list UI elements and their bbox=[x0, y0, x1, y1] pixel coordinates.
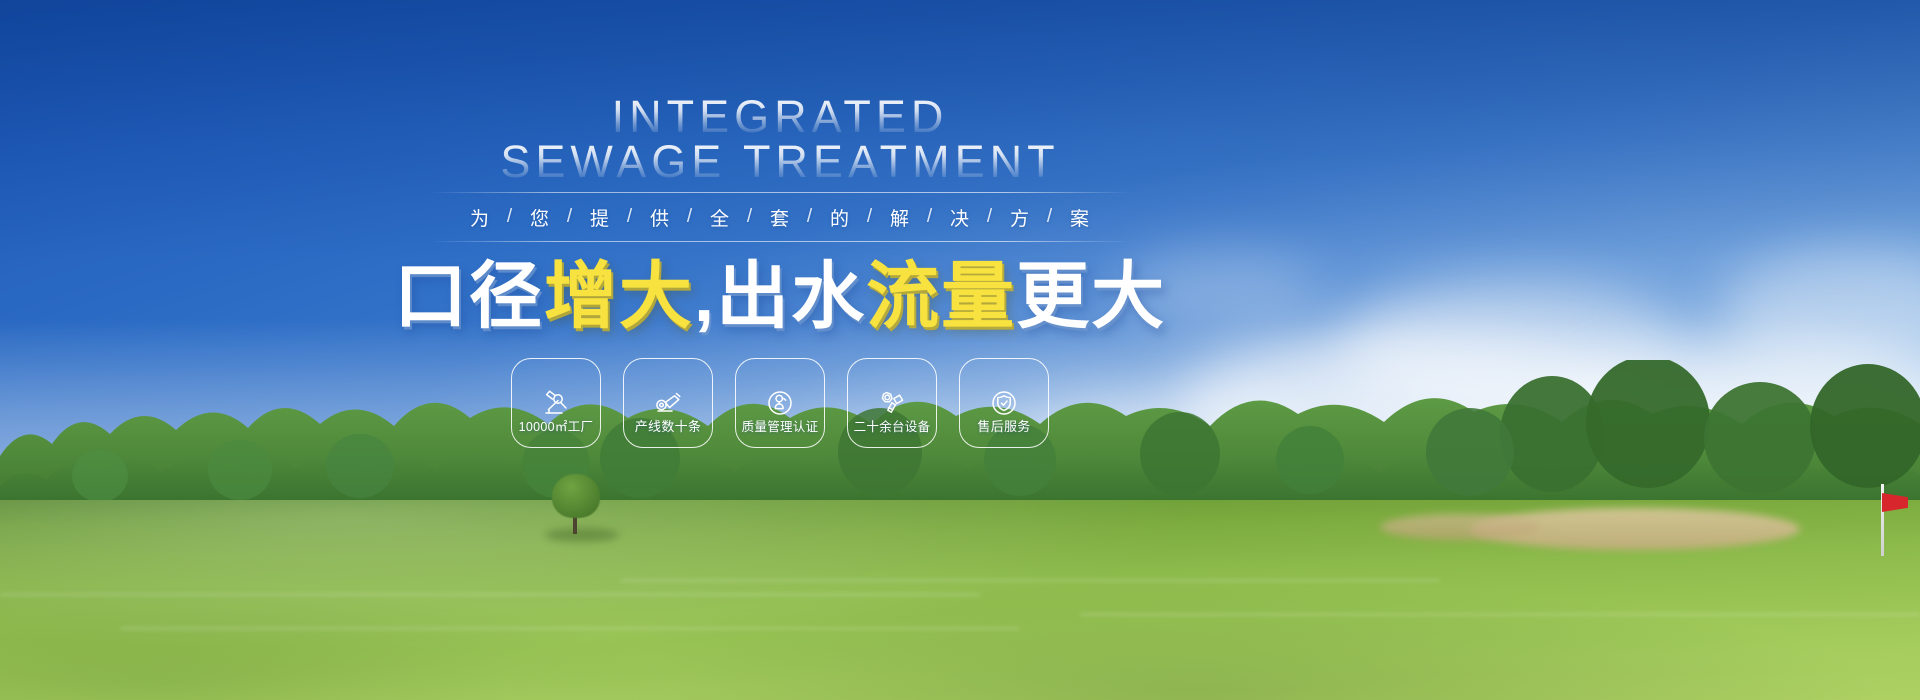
chinese-tagline: 为/您/提/供/全/套/的/解/决/方/案 bbox=[350, 204, 1210, 231]
tagline-char: 为 bbox=[463, 204, 497, 231]
tagline-char: 您 bbox=[523, 204, 557, 231]
feature-badge-5[interactable]: 售后服务 bbox=[959, 358, 1049, 448]
microscope-icon bbox=[539, 386, 573, 420]
feature-badge-label: 10000㎡工厂 bbox=[519, 416, 594, 435]
tagline-char: 解 bbox=[883, 204, 917, 231]
feature-badge-label: 售后服务 bbox=[977, 416, 1030, 435]
certificate-person-icon bbox=[763, 386, 797, 420]
tagline-separator: / bbox=[677, 206, 703, 228]
divider-top bbox=[430, 192, 1130, 193]
tagline-char: 全 bbox=[703, 204, 737, 231]
headline-segment: , bbox=[694, 256, 716, 337]
headline-segment: 出水 bbox=[716, 256, 866, 337]
tagline-char: 案 bbox=[1063, 204, 1097, 231]
feature-badge-label: 质量管理认证 bbox=[742, 416, 819, 435]
tagline-char: 套 bbox=[763, 204, 797, 231]
tagline-char: 方 bbox=[1003, 204, 1037, 231]
tagline-separator: / bbox=[797, 206, 823, 228]
mow-stripe bbox=[1080, 613, 1920, 616]
feature-badge-label: 二十余台设备 bbox=[854, 416, 931, 435]
english-headline: INTEGRATED SEWAGE TREATMENT bbox=[350, 96, 1210, 184]
headline-segment: 更大 bbox=[1016, 256, 1166, 337]
sand-bunker bbox=[1380, 514, 1540, 540]
production-line-icon bbox=[651, 386, 685, 420]
mow-stripe bbox=[120, 627, 1020, 630]
headline-segment: 增大 bbox=[544, 256, 694, 337]
tagline-char: 决 bbox=[943, 204, 977, 231]
tagline-separator: / bbox=[857, 206, 883, 228]
tree-crown bbox=[552, 474, 600, 518]
feature-badge-1[interactable]: 10000㎡工厂 bbox=[511, 358, 601, 448]
feature-badge-row: 10000㎡工厂产线数十条质量管理认证二十余台设备售后服务 bbox=[350, 358, 1210, 448]
tagline-separator: / bbox=[737, 206, 763, 228]
tagline-separator: / bbox=[617, 206, 643, 228]
tree-shadow bbox=[545, 528, 619, 542]
shield-check-icon bbox=[987, 386, 1021, 420]
headline-segment: 口径 bbox=[394, 256, 544, 337]
feature-badge-label: 产线数十条 bbox=[635, 416, 702, 435]
feature-badge-2[interactable]: 产线数十条 bbox=[623, 358, 713, 448]
tagline-separator: / bbox=[917, 206, 943, 228]
tagline-separator: / bbox=[1037, 206, 1063, 228]
english-headline-line2: SEWAGE TREATMENT bbox=[500, 141, 1059, 184]
mow-stripe bbox=[0, 593, 980, 596]
feature-badge-4[interactable]: 二十余台设备 bbox=[847, 358, 937, 448]
divider-bottom bbox=[430, 241, 1130, 242]
mow-stripe bbox=[620, 579, 1440, 582]
banner-text-block: INTEGRATED SEWAGE TREATMENT 为/您/提/供/全/套/… bbox=[350, 96, 1210, 448]
english-headline-line1: INTEGRATED bbox=[612, 96, 949, 139]
bolt-wrench-icon bbox=[875, 386, 909, 420]
tagline-separator: / bbox=[977, 206, 1003, 228]
tagline-char: 的 bbox=[823, 204, 857, 231]
headline-segment: 流量 bbox=[866, 256, 1016, 337]
tagline-char: 供 bbox=[643, 204, 677, 231]
tagline-char: 提 bbox=[583, 204, 617, 231]
hero-banner: INTEGRATED SEWAGE TREATMENT 为/您/提/供/全/套/… bbox=[0, 0, 1920, 700]
tagline-separator: / bbox=[557, 206, 583, 228]
feature-badge-3[interactable]: 质量管理认证 bbox=[735, 358, 825, 448]
main-headline: 口径增大,出水流量更大 bbox=[350, 258, 1210, 337]
tagline-separator: / bbox=[497, 206, 523, 228]
